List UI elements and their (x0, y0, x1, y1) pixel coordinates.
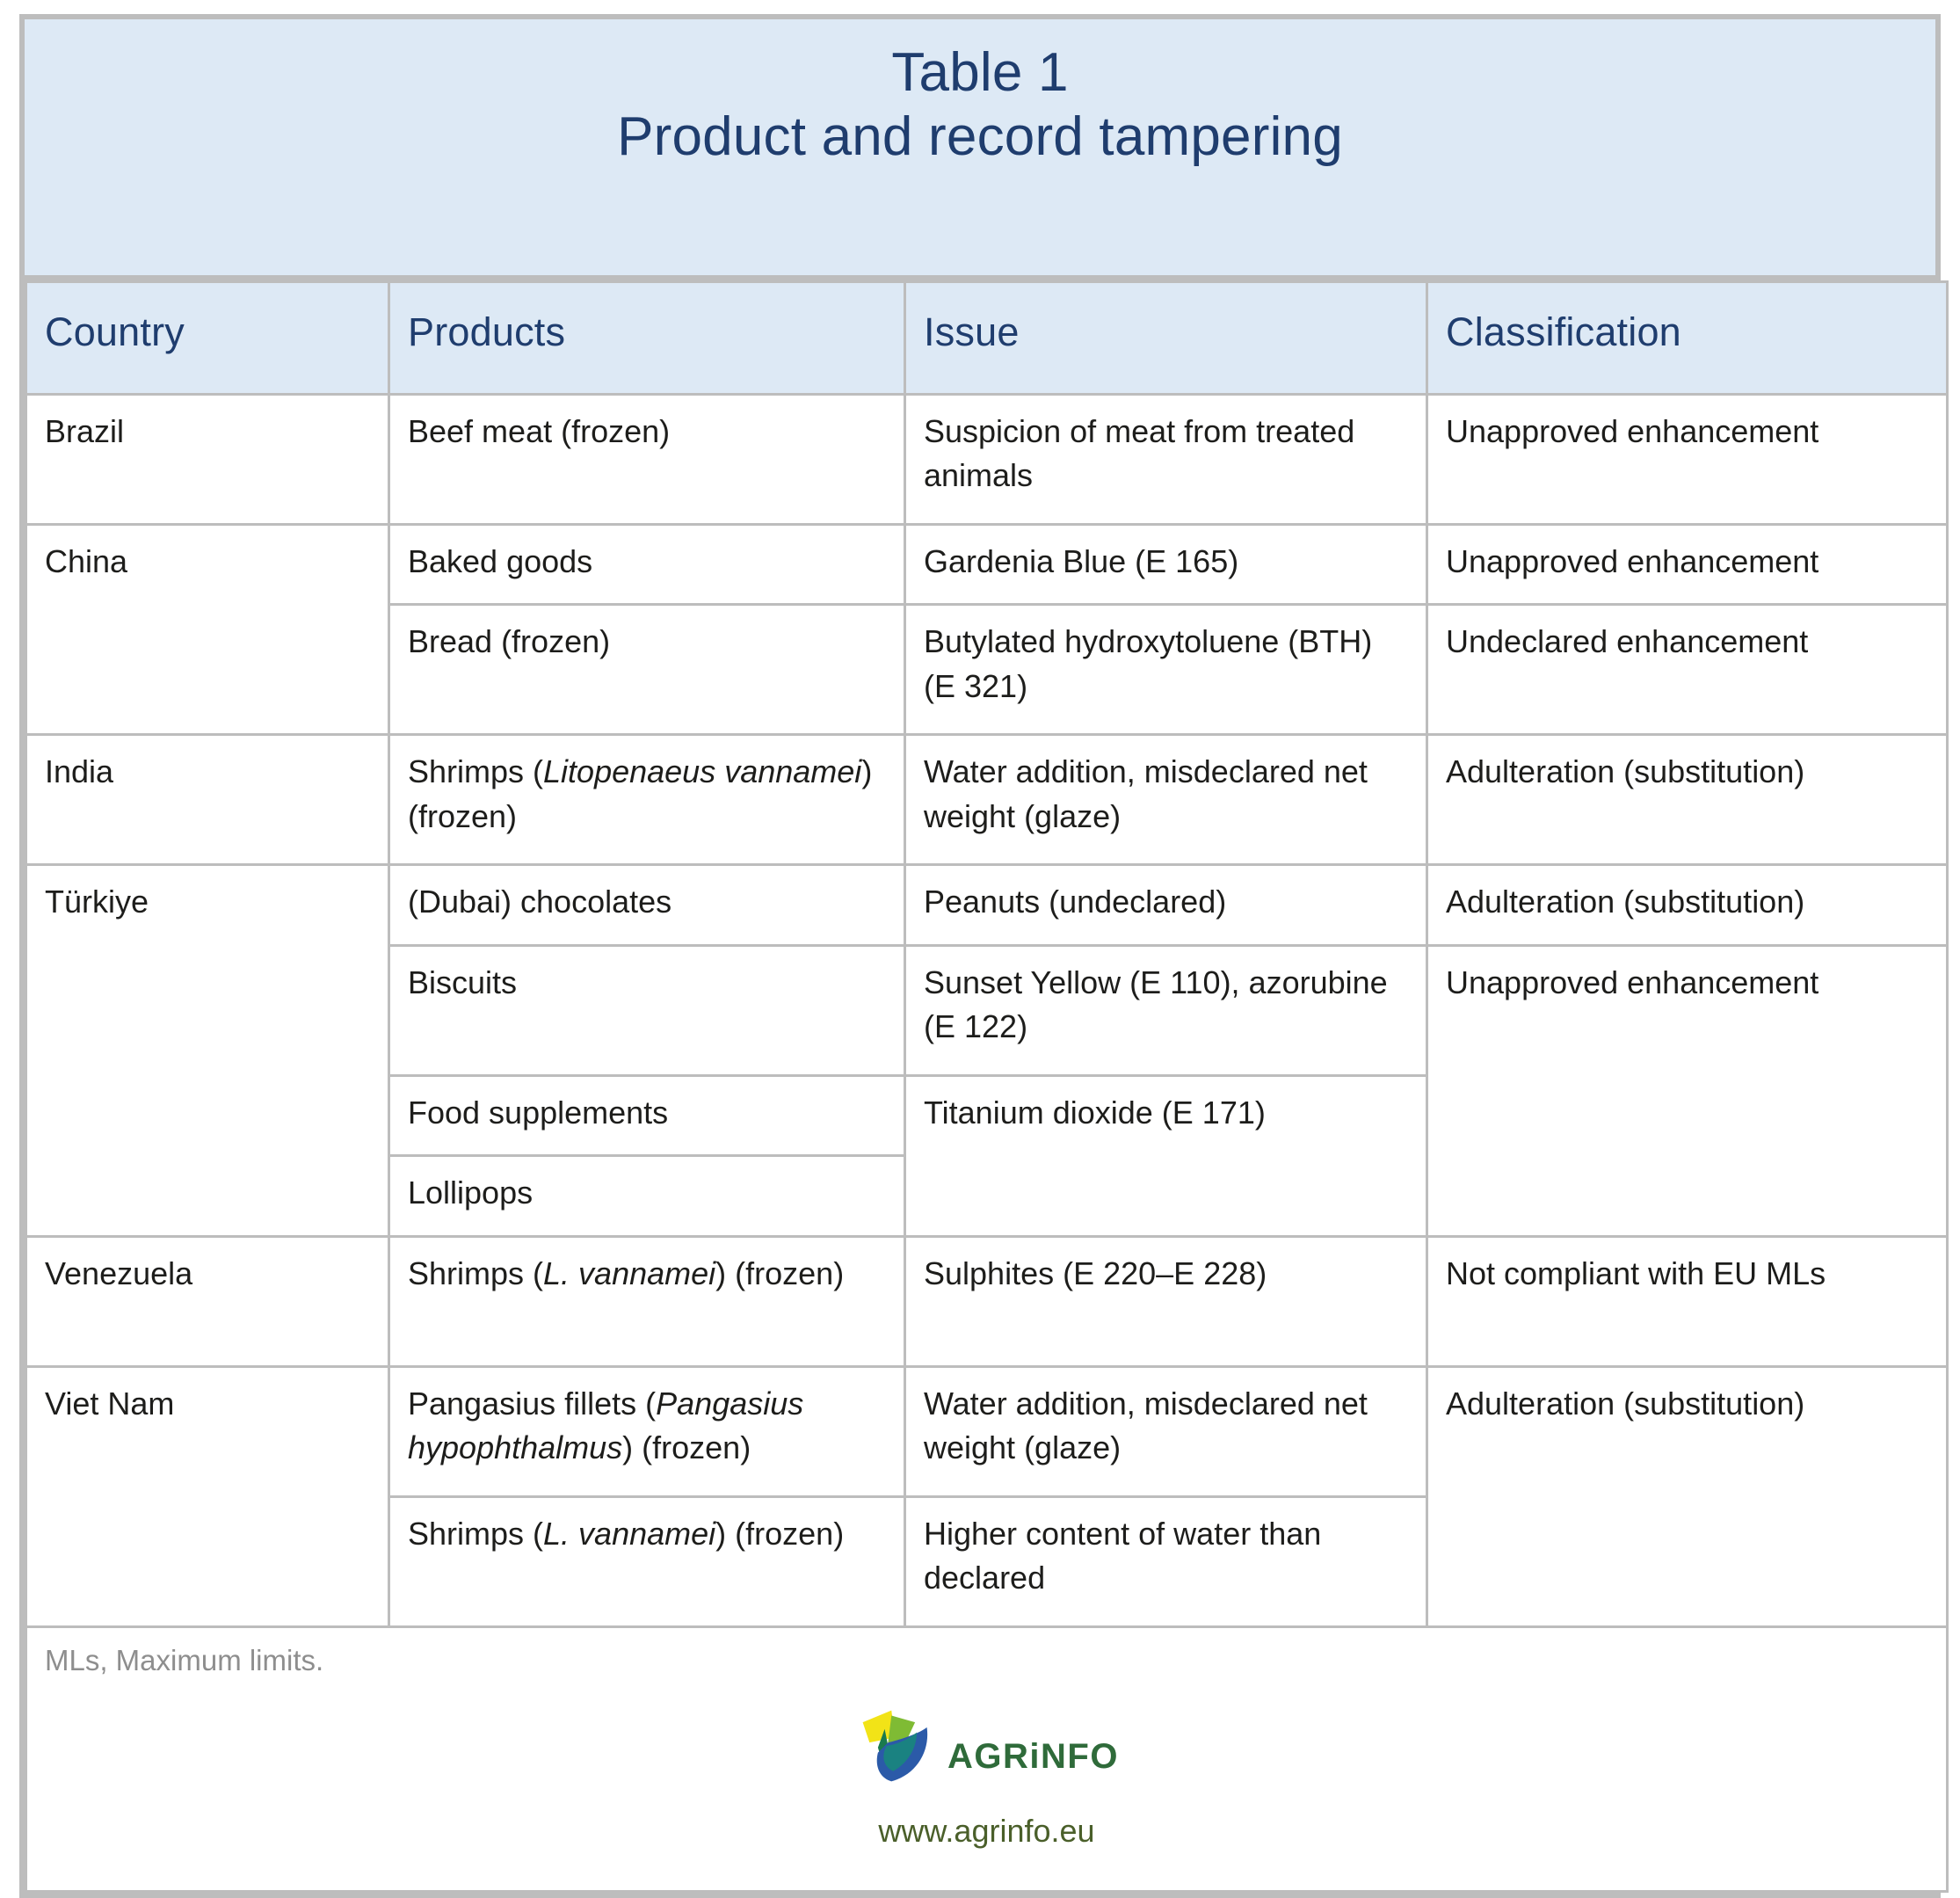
cell-classification: Adulteration (substitution) (1427, 1366, 1948, 1626)
table-title-banner: Table 1 Product and record tampering (25, 19, 1935, 280)
table-row: Venezuela Shrimps (L. vannamei) (frozen)… (26, 1236, 1948, 1366)
leaf-bird-logo-icon (854, 1704, 939, 1788)
species-name: L. vannamei (543, 1516, 715, 1552)
cell-issue: Sunset Yellow (E 110), azorubine (E 122) (905, 945, 1427, 1075)
cell-issue: Peanuts (undeclared) (905, 865, 1427, 945)
cell-product: Pangasius fillets (Pangasius hypophthalm… (389, 1366, 905, 1496)
cell-issue: Higher content of water than declared (905, 1496, 1427, 1626)
table-frame: Table 1 Product and record tampering Cou… (19, 14, 1941, 1898)
table-caption: Product and record tampering (33, 105, 1927, 169)
table-body: Brazil Beef meat (frozen) Suspicion of m… (26, 395, 1948, 1892)
cell-classification: Unapproved enhancement (1427, 525, 1948, 605)
agrinfo-logo: AGRiNFO (854, 1700, 1119, 1792)
cell-country: Türkiye (26, 865, 389, 1236)
agrinfo-url: www.agrinfo.eu (45, 1809, 1928, 1853)
cell-issue: Sulphites (E 220–E 228) (905, 1236, 1427, 1366)
product-text: Shrimps ( (408, 1255, 543, 1291)
cell-country: Viet Nam (26, 1366, 389, 1626)
footnote-row: MLs, Maximum limits. AGRiN (26, 1626, 1948, 1892)
cell-country: Brazil (26, 395, 389, 525)
table-row: Viet Nam Pangasius fillets (Pangasius hy… (26, 1366, 1948, 1496)
product-text-suffix: ) (frozen) (715, 1255, 844, 1291)
cell-classification: Unapproved enhancement (1427, 395, 1948, 525)
footer-brand: AGRiNFO www.agrinfo.eu (45, 1679, 1928, 1871)
product-text: Pangasius fillets ( (408, 1385, 656, 1422)
cell-issue: Gardenia Blue (E 165) (905, 525, 1427, 605)
product-text-suffix: ) (frozen) (622, 1429, 751, 1465)
species-name: Litopenaeus vannamei (543, 753, 861, 789)
cell-classification: Unapproved enhancement (1427, 945, 1948, 1236)
product-text: Beef meat (frozen) (408, 413, 670, 449)
product-text: (Dubai) chocolates (408, 884, 671, 920)
tampering-table: Country Products Issue Classification Br… (25, 280, 1949, 1893)
cell-issue: Water addition, misdeclared net weight (… (905, 1366, 1427, 1496)
product-text: Bread (frozen) (408, 623, 610, 659)
cell-country: India (26, 735, 389, 865)
product-text: Shrimps ( (408, 1516, 543, 1552)
column-header-classification: Classification (1427, 282, 1948, 395)
cell-product: Baked goods (389, 525, 905, 605)
product-text: Lollipops (408, 1174, 533, 1211)
cell-product: Beef meat (frozen) (389, 395, 905, 525)
table-row: Türkiye (Dubai) chocolates Peanuts (unde… (26, 865, 1948, 945)
cell-product: Biscuits (389, 945, 905, 1075)
product-text: Biscuits (408, 964, 517, 1000)
cell-issue: Titanium dioxide (E 171) (905, 1075, 1427, 1236)
species-name: L. vannamei (543, 1255, 715, 1291)
product-text-suffix: ) (frozen) (715, 1516, 844, 1552)
product-text: Baked goods (408, 543, 592, 579)
cell-product: Lollipops (389, 1156, 905, 1236)
cell-classification: Adulteration (substitution) (1427, 735, 1948, 865)
footnote-cell: MLs, Maximum limits. AGRiN (26, 1626, 1948, 1892)
product-text: Shrimps ( (408, 753, 543, 789)
footnote-text: MLs, Maximum limits. (45, 1642, 1928, 1680)
cell-product: Bread (frozen) (389, 605, 905, 735)
cell-issue: Suspicion of meat from treated animals (905, 395, 1427, 525)
header-row: Country Products Issue Classification (26, 282, 1948, 395)
cell-classification: Undeclared enhancement (1427, 605, 1948, 735)
cell-classification: Not compliant with EU MLs (1427, 1236, 1948, 1366)
column-header-products: Products (389, 282, 905, 395)
table-page: Table 1 Product and record tampering Cou… (0, 0, 1960, 1871)
table-row: China Baked goods Gardenia Blue (E 165) … (26, 525, 1948, 605)
cell-product: (Dubai) chocolates (389, 865, 905, 945)
product-text: Food supplements (408, 1094, 668, 1131)
cell-product: Shrimps (Litopenaeus vannamei) (frozen) (389, 735, 905, 865)
cell-product: Food supplements (389, 1075, 905, 1155)
table-row: Brazil Beef meat (frozen) Suspicion of m… (26, 395, 1948, 525)
table-number: Table 1 (33, 40, 1927, 105)
table-row: India Shrimps (Litopenaeus vannamei) (fr… (26, 735, 1948, 865)
cell-product: Shrimps (L. vannamei) (frozen) (389, 1236, 905, 1366)
agrinfo-wordmark: AGRiNFO (947, 1739, 1119, 1774)
cell-classification: Adulteration (substitution) (1427, 865, 1948, 945)
table-header: Country Products Issue Classification (26, 282, 1948, 395)
column-header-issue: Issue (905, 282, 1427, 395)
cell-issue: Butylated hydroxytoluene (BTH) (E 321) (905, 605, 1427, 735)
cell-country: China (26, 525, 389, 735)
column-header-country: Country (26, 282, 389, 395)
cell-product: Shrimps (L. vannamei) (frozen) (389, 1496, 905, 1626)
cell-issue: Water addition, misdeclared net weight (… (905, 735, 1427, 865)
cell-country: Venezuela (26, 1236, 389, 1366)
